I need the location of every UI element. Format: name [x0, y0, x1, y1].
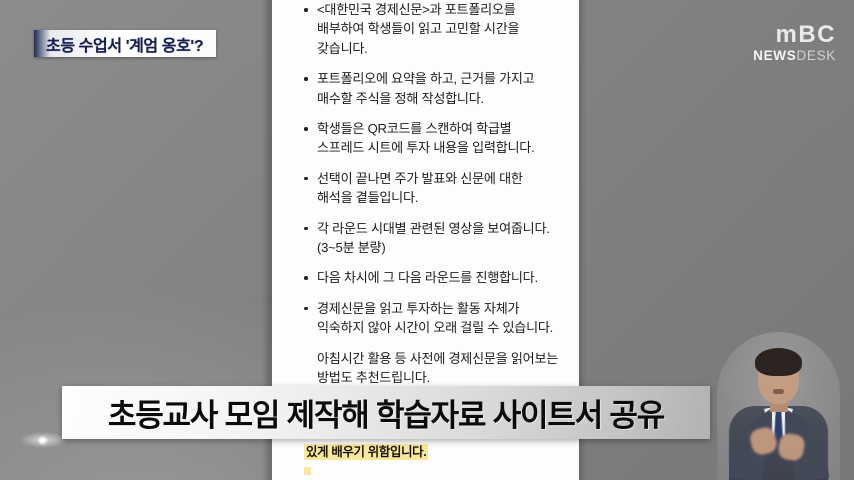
interpreter-eye-left [765, 372, 771, 375]
list-item: 다음 차시에 그 다음 라운드를 진행합니다. [304, 268, 559, 287]
list-item: 포트폴리오에 요약을 하고, 근거를 가지고 매수할 주식을 정해 작성합니다. [304, 69, 559, 108]
top-headline-text: 초등 수업서 '계엄 옹호'? [46, 32, 203, 56]
interpreter-eye-right [785, 372, 791, 375]
interpreter-mouth [773, 389, 784, 394]
list-item: 각 라운드 시대별 관련된 영상을 보여줍니다. (3~5분 분량) [304, 219, 559, 258]
top-headline-banner: 초등 수업서 '계엄 옹호'? [34, 30, 216, 57]
newsdesk-bold-part: NEWS [753, 48, 796, 63]
document-closing-paragraph: 아침시간 활용 등 사전에 경제신문을 읽어보는 방법도 추천드립니다. [304, 349, 559, 388]
mbc-newsdesk-logo: mBC NEWSDESK [753, 22, 836, 64]
broadcast-screen: <대한민국 경제신문>과 포트폴리오를 배부하여 학생들이 읽고 고민할 시간을… [0, 0, 854, 480]
highlighted-text: 있게 배우기 위함입니다. [304, 444, 428, 460]
list-item: 선택이 끝나면 주가 발표와 신문에 대한 해석을 곁들입니다. [304, 169, 559, 208]
interpreter-hair [755, 348, 802, 376]
list-item: 학생들은 QR코드를 스캔하여 학급별 스프레드 시트에 투자 내용을 입력합니… [304, 119, 559, 158]
highlight-partial-row [304, 466, 554, 475]
newsdesk-light-part: DESK [796, 48, 836, 63]
bottom-headline-text: 초등교사 모임 제작해 학습자료 사이트서 공유 [108, 390, 664, 435]
mbc-logo-text: mBC [753, 22, 836, 47]
document-body: <대한민국 경제신문>과 포트폴리오를 배부하여 학생들이 읽고 고민할 시간을… [272, 0, 579, 388]
lens-flare-core [39, 437, 46, 444]
bottom-headline-banner: 초등교사 모임 제작해 학습자료 사이트서 공유 [62, 386, 710, 439]
highlighted-text-partial [304, 467, 311, 475]
list-item: <대한민국 경제신문>과 포트폴리오를 배부하여 학생들이 읽고 고민할 시간을… [304, 0, 559, 58]
document-bullet-list: <대한민국 경제신문>과 포트폴리오를 배부하여 학생들이 읽고 고민할 시간을… [304, 0, 559, 338]
sign-language-interpreter [717, 332, 840, 480]
list-item: 경제신문을 읽고 투자하는 활동 자체가 익숙하지 않아 시간이 오래 걸릴 수… [304, 299, 559, 338]
newsdesk-logo-text: NEWSDESK [753, 48, 836, 64]
